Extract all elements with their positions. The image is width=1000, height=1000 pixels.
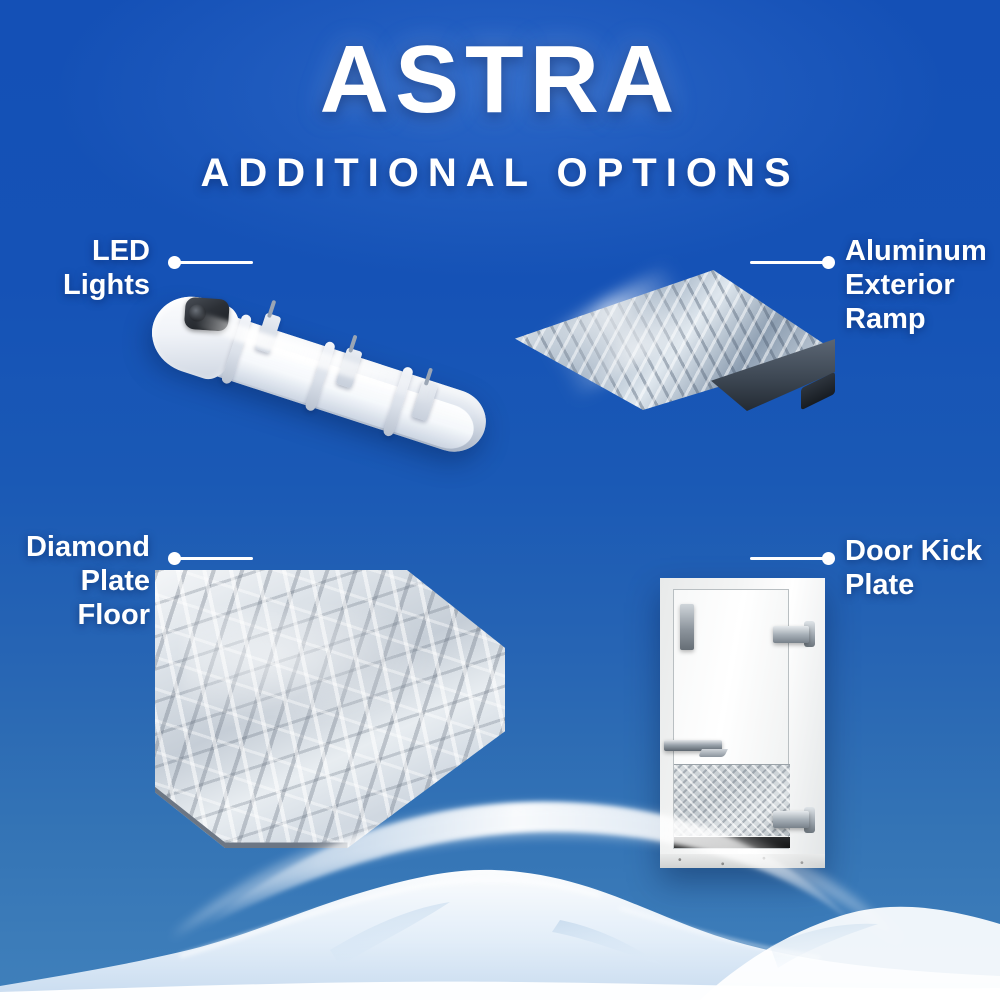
door-latch-icon	[680, 604, 694, 650]
product-image-aluminum-ramp	[505, 265, 850, 450]
door-leaf	[673, 589, 789, 849]
leader-bar-icon	[750, 557, 826, 560]
callout-aluminum-exterior-ramp: Aluminum Exterior Ramp	[845, 234, 1000, 337]
page-subtitle: ADDITIONAL OPTIONS	[0, 151, 1000, 196]
callout-door-kick-plate: Door Kick Plate	[845, 534, 1000, 602]
hinge-bottom-icon	[773, 811, 809, 828]
door-threshold	[660, 854, 825, 868]
leader-dot-icon	[822, 552, 835, 565]
door-handle-icon	[664, 740, 722, 751]
product-image-led-light-fixture	[120, 262, 540, 452]
callout-diamond-plate-floor: Diamond Plate Floor	[0, 530, 150, 633]
callout-label-aluminum-exterior-ramp: Aluminum Exterior Ramp	[845, 234, 1000, 337]
leader-line-door-kick-plate	[750, 551, 835, 565]
diamond-plate-surface	[155, 570, 505, 848]
poster-canvas: ASTRA ADDITIONAL OPTIONS LED Lights Alum…	[0, 0, 1000, 1000]
leader-bar-icon	[177, 557, 253, 560]
poster-header: ASTRA ADDITIONAL OPTIONS	[0, 0, 1000, 196]
callout-label-door-kick-plate: Door Kick Plate	[845, 534, 1000, 602]
callout-label-diamond-plate-floor: Diamond Plate Floor	[0, 530, 150, 633]
leader-line-diamond-plate-floor	[168, 551, 253, 565]
hinge-top-icon	[773, 626, 809, 643]
product-image-walk-in-door	[660, 578, 830, 878]
page-title: ASTRA	[0, 30, 1000, 131]
led-light-fixture	[136, 278, 511, 489]
leader-bar-icon	[750, 261, 826, 264]
door-frame	[660, 578, 825, 868]
door-sweep	[674, 837, 790, 848]
product-image-diamond-plate-sheet	[155, 570, 515, 860]
